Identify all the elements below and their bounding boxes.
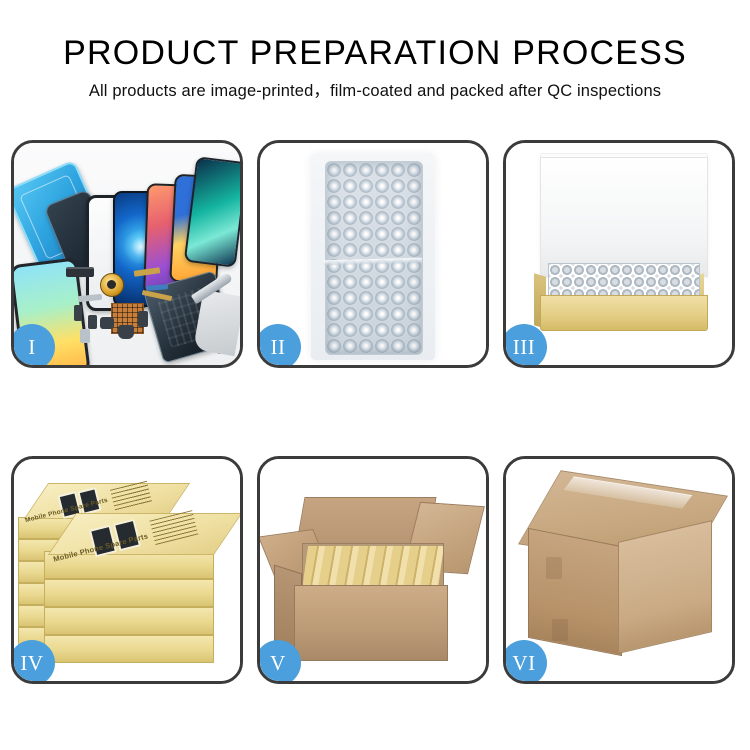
carton-front-panel [294, 585, 448, 661]
step-badge-2: II [257, 324, 301, 368]
process-step-3[interactable]: III [503, 140, 735, 368]
button-part [74, 305, 82, 321]
speaker-part [66, 267, 94, 277]
box-lid-back [540, 157, 708, 277]
battery-connector-part [138, 311, 148, 327]
button-part [88, 315, 97, 329]
step-badge-6: VI [503, 640, 547, 684]
stacked-box [44, 635, 214, 663]
phone-teal-display [184, 156, 240, 268]
page-subtitle: All products are image-printed，film-coat… [0, 80, 750, 102]
stacked-box [44, 607, 214, 635]
process-step-1[interactable]: I [11, 140, 243, 368]
process-step-5[interactable]: V [257, 456, 489, 684]
sim-tray-part [80, 329, 90, 343]
carton-hand-hole [552, 619, 568, 641]
process-step-grid: I II III [11, 140, 739, 684]
step-badge-5: V [257, 640, 301, 684]
process-step-4[interactable]: Mobile Phone Spare Parts Mobile Phone Sp… [11, 456, 243, 684]
carton-hand-hole [546, 557, 562, 579]
page-header: PRODUCT PREPARATION PROCESS All products… [0, 0, 750, 102]
receiver-part [118, 325, 134, 339]
step-badge-3: III [503, 324, 547, 368]
carton-left-face [528, 528, 622, 656]
process-step-6[interactable]: VI [503, 456, 735, 684]
page-title: PRODUCT PREPARATION PROCESS [0, 33, 750, 73]
stacked-box [44, 579, 214, 607]
step-badge-1: I [11, 324, 55, 368]
camera-module-part [100, 317, 114, 329]
step-badge-4: IV [11, 640, 55, 684]
process-step-2[interactable]: II [257, 140, 489, 368]
carton-right-face [618, 520, 712, 654]
box-front-panel [540, 295, 708, 331]
vibration-motor-part [100, 273, 124, 297]
